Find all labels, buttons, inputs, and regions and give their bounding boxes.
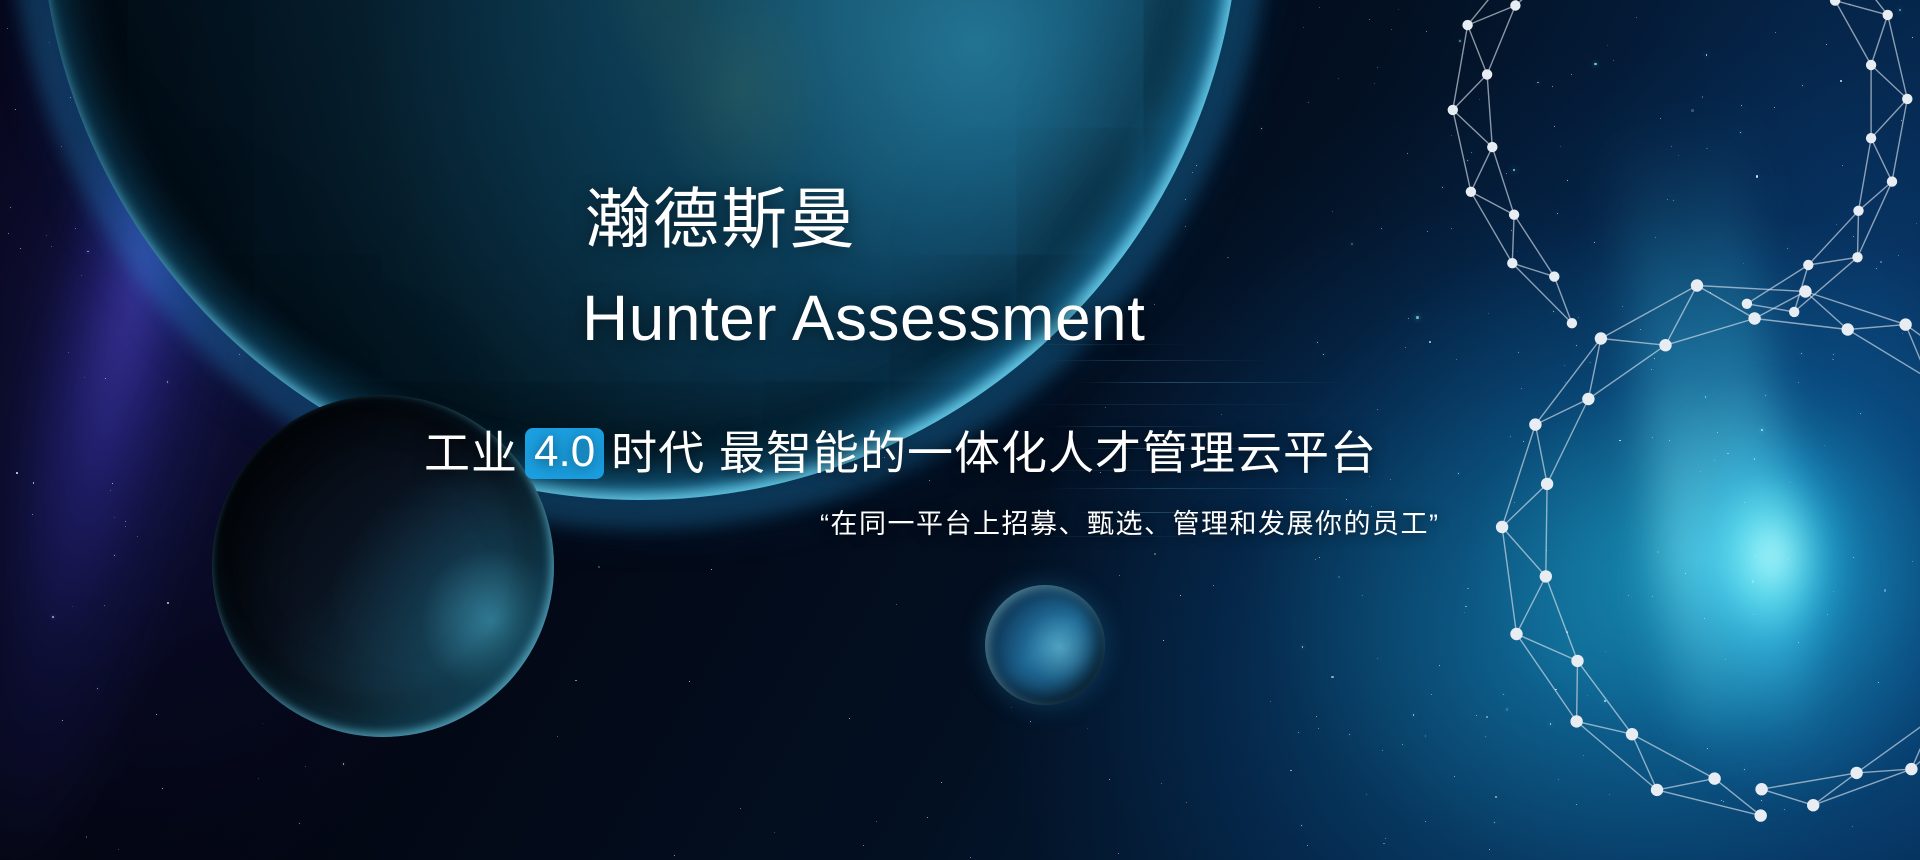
- tagline-suffix: 时代 最智能的一体化人才管理云平台: [611, 429, 1377, 479]
- tagline-quote: “在同一平台上招募、甄选、管理和发展你的员工”: [820, 508, 1439, 540]
- hero-banner: 瀚德斯曼 Hunter Assessment 工业 4.0 时代 最智能的一体化…: [0, 0, 1920, 860]
- tagline-prefix: 工业: [424, 429, 518, 479]
- brand-name-english: Hunter Assessment: [582, 286, 1145, 350]
- brand-name-chinese: 瀚德斯曼: [585, 186, 857, 252]
- cyan-nebula-glow: [1560, 380, 1920, 800]
- tagline: 工业 4.0 时代 最智能的一体化人才管理云平台: [424, 428, 1377, 479]
- industry-version-badge: 4.0: [525, 428, 604, 479]
- moon-small: [985, 585, 1105, 705]
